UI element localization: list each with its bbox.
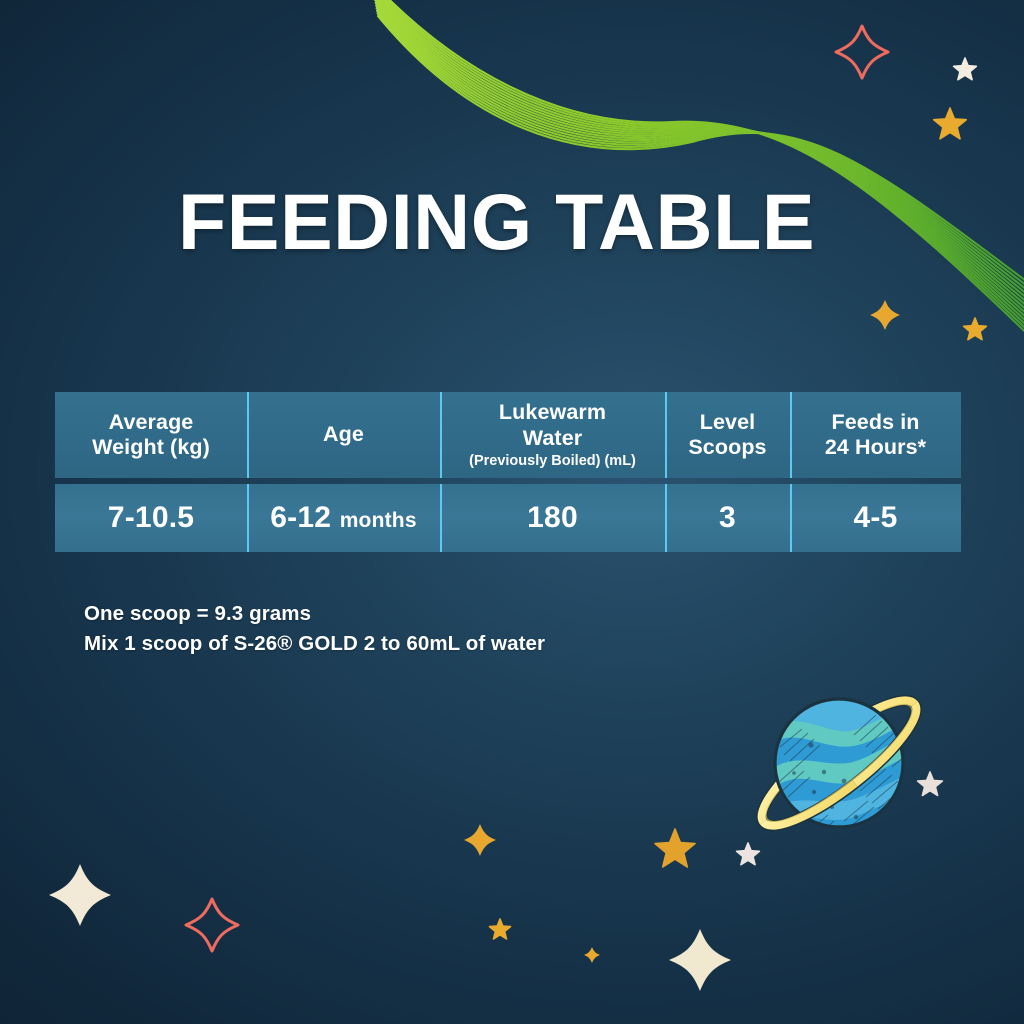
star-sparkle-gold-right xyxy=(870,300,900,330)
ringed-planet-illustration xyxy=(736,655,946,865)
footnote-line-1: One scoop = 9.3 grams xyxy=(84,599,545,629)
header-lukewarm-water: Lukewarm Water (Previously Boiled) (mL) xyxy=(440,392,665,478)
header-age: Age xyxy=(247,392,440,478)
star-sparkle-cream-left xyxy=(49,864,111,926)
header-level-scoops: Level Scoops xyxy=(665,392,790,478)
poster-canvas: FEEDING TABLE Average Weight (kg) Age Lu… xyxy=(0,0,1024,1024)
header-sub: (Previously Boiled) (mL) xyxy=(469,453,636,470)
header-line1: Lukewarm xyxy=(499,400,606,425)
header-line2: Scoops xyxy=(688,435,766,460)
wave-line-2 xyxy=(373,0,1024,342)
cell-feeds-24-hours: 4-5 xyxy=(790,484,961,552)
header-line2: 24 Hours* xyxy=(825,435,926,460)
star-sparkle-coral-bottom-left xyxy=(186,899,238,951)
table-header-row: Average Weight (kg) Age Lukewarm Water (… xyxy=(55,392,961,478)
cell-age-value: 6-12 xyxy=(270,501,331,534)
feeding-table: Average Weight (kg) Age Lukewarm Water (… xyxy=(55,392,961,552)
star-5point-gold-bottom-right xyxy=(655,829,695,867)
header-line1: Average xyxy=(109,410,194,435)
page-title: FEEDING TABLE xyxy=(178,182,815,261)
wave-line-5 xyxy=(374,0,1024,328)
star-sparkle-cream-bottom-right xyxy=(669,929,731,991)
header-line1: Level xyxy=(700,410,755,435)
header-line1: Feeds in xyxy=(831,410,919,435)
wave-line-4 xyxy=(374,0,1024,333)
cell-average-weight: 7-10.5 xyxy=(55,484,247,552)
footnotes: One scoop = 9.3 grams Mix 1 scoop of S-2… xyxy=(84,599,545,659)
cell-level-scoops: 3 xyxy=(665,484,790,552)
cell-lukewarm-water: 180 xyxy=(440,484,665,552)
wave-line-7 xyxy=(375,0,1024,318)
wave-line-8 xyxy=(376,3,1024,314)
wave-line-6 xyxy=(375,0,1024,323)
table-row: 7-10.5 6-12 months 180 3 4-5 xyxy=(55,484,961,552)
wave-line-3 xyxy=(373,0,1024,338)
star-sparkle-gold-small-center xyxy=(584,947,600,963)
header-line2: Water xyxy=(523,426,582,451)
cell-age: 6-12 months xyxy=(247,484,440,552)
footnote-line-2: Mix 1 scoop of S-26® GOLD 2 to 60mL of w… xyxy=(84,629,545,659)
header-feeds-24-hours: Feeds in 24 Hours* xyxy=(790,392,961,478)
wave-line-0 xyxy=(372,0,1024,352)
star-5point-gold-bottom-center xyxy=(490,919,511,939)
header-average-weight: Average Weight (kg) xyxy=(55,392,247,478)
star-5point-cream-mid-right xyxy=(918,772,943,796)
star-sparkle-gold-bottom-center xyxy=(464,824,496,856)
star-5point-cream-top-right xyxy=(954,58,977,80)
header-line1: Age xyxy=(323,422,364,447)
star-sparkle-coral-top-right xyxy=(836,26,888,78)
star-5point-gold-top-right xyxy=(934,108,966,139)
star-5point-cream-bottom-right xyxy=(737,843,760,865)
header-line2: Weight (kg) xyxy=(92,435,210,460)
star-5point-gold-right-edge xyxy=(964,318,987,340)
wave-line-1 xyxy=(372,0,1024,347)
cell-age-unit: months xyxy=(340,509,417,532)
